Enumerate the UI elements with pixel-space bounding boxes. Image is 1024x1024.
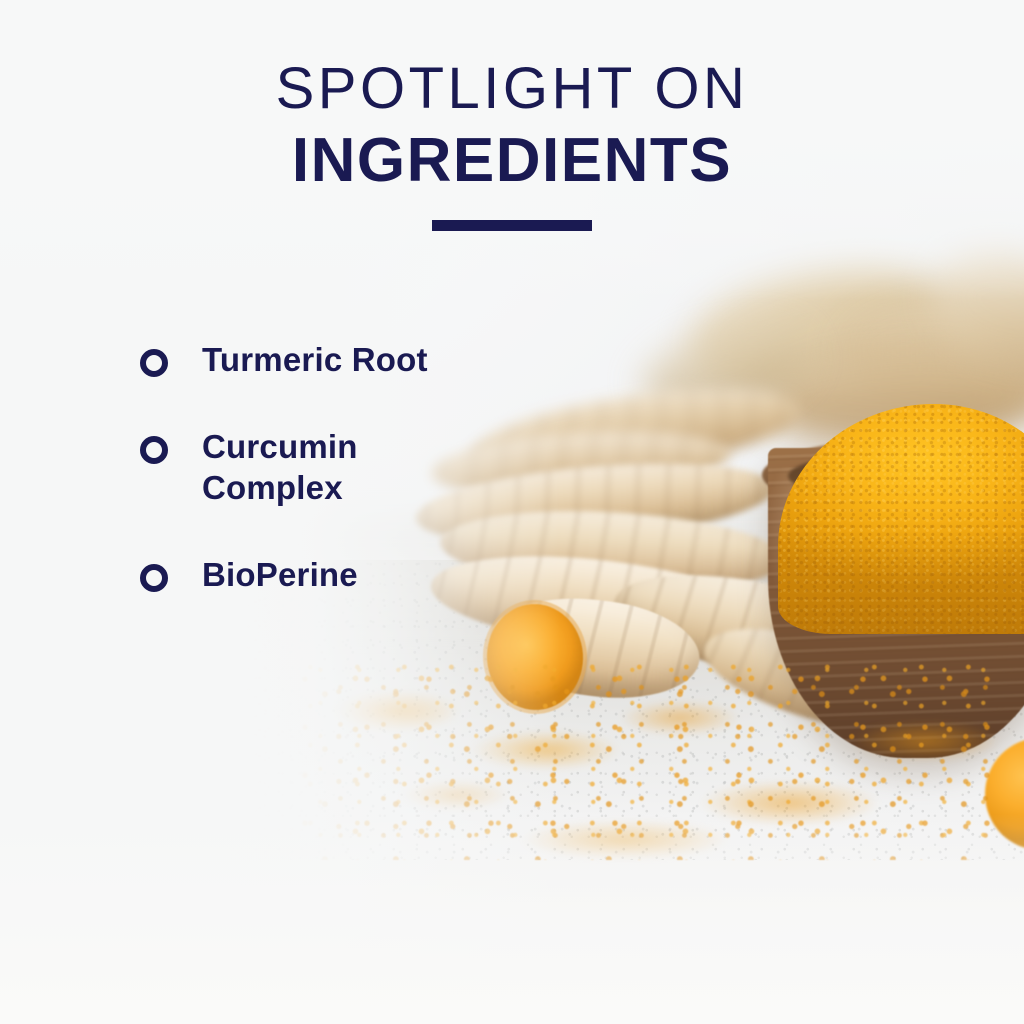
card-content: SPOTLIGHT ON INGREDIENTS Turmeric Root C… <box>0 0 1024 1024</box>
page-title: SPOTLIGHT ON INGREDIENTS <box>0 60 1024 195</box>
list-item: BioPerine <box>140 555 560 596</box>
ingredient-label: Turmeric Root <box>202 340 428 381</box>
ring-bullet-icon <box>140 349 168 377</box>
ingredient-label: Curcumin Complex <box>202 427 452 509</box>
title-underline-rule <box>432 220 592 231</box>
ingredient-label: BioPerine <box>202 555 358 596</box>
headline-line-1: SPOTLIGHT ON <box>0 60 1024 118</box>
headline-line-2: INGREDIENTS <box>0 126 1024 195</box>
list-item: Turmeric Root <box>140 340 560 381</box>
ring-bullet-icon <box>140 564 168 592</box>
ring-bullet-icon <box>140 436 168 464</box>
ingredient-list: Turmeric Root Curcumin Complex BioPerine <box>140 340 560 642</box>
ingredient-spotlight-card: SPOTLIGHT ON INGREDIENTS Turmeric Root C… <box>0 0 1024 1024</box>
list-item: Curcumin Complex <box>140 427 560 509</box>
